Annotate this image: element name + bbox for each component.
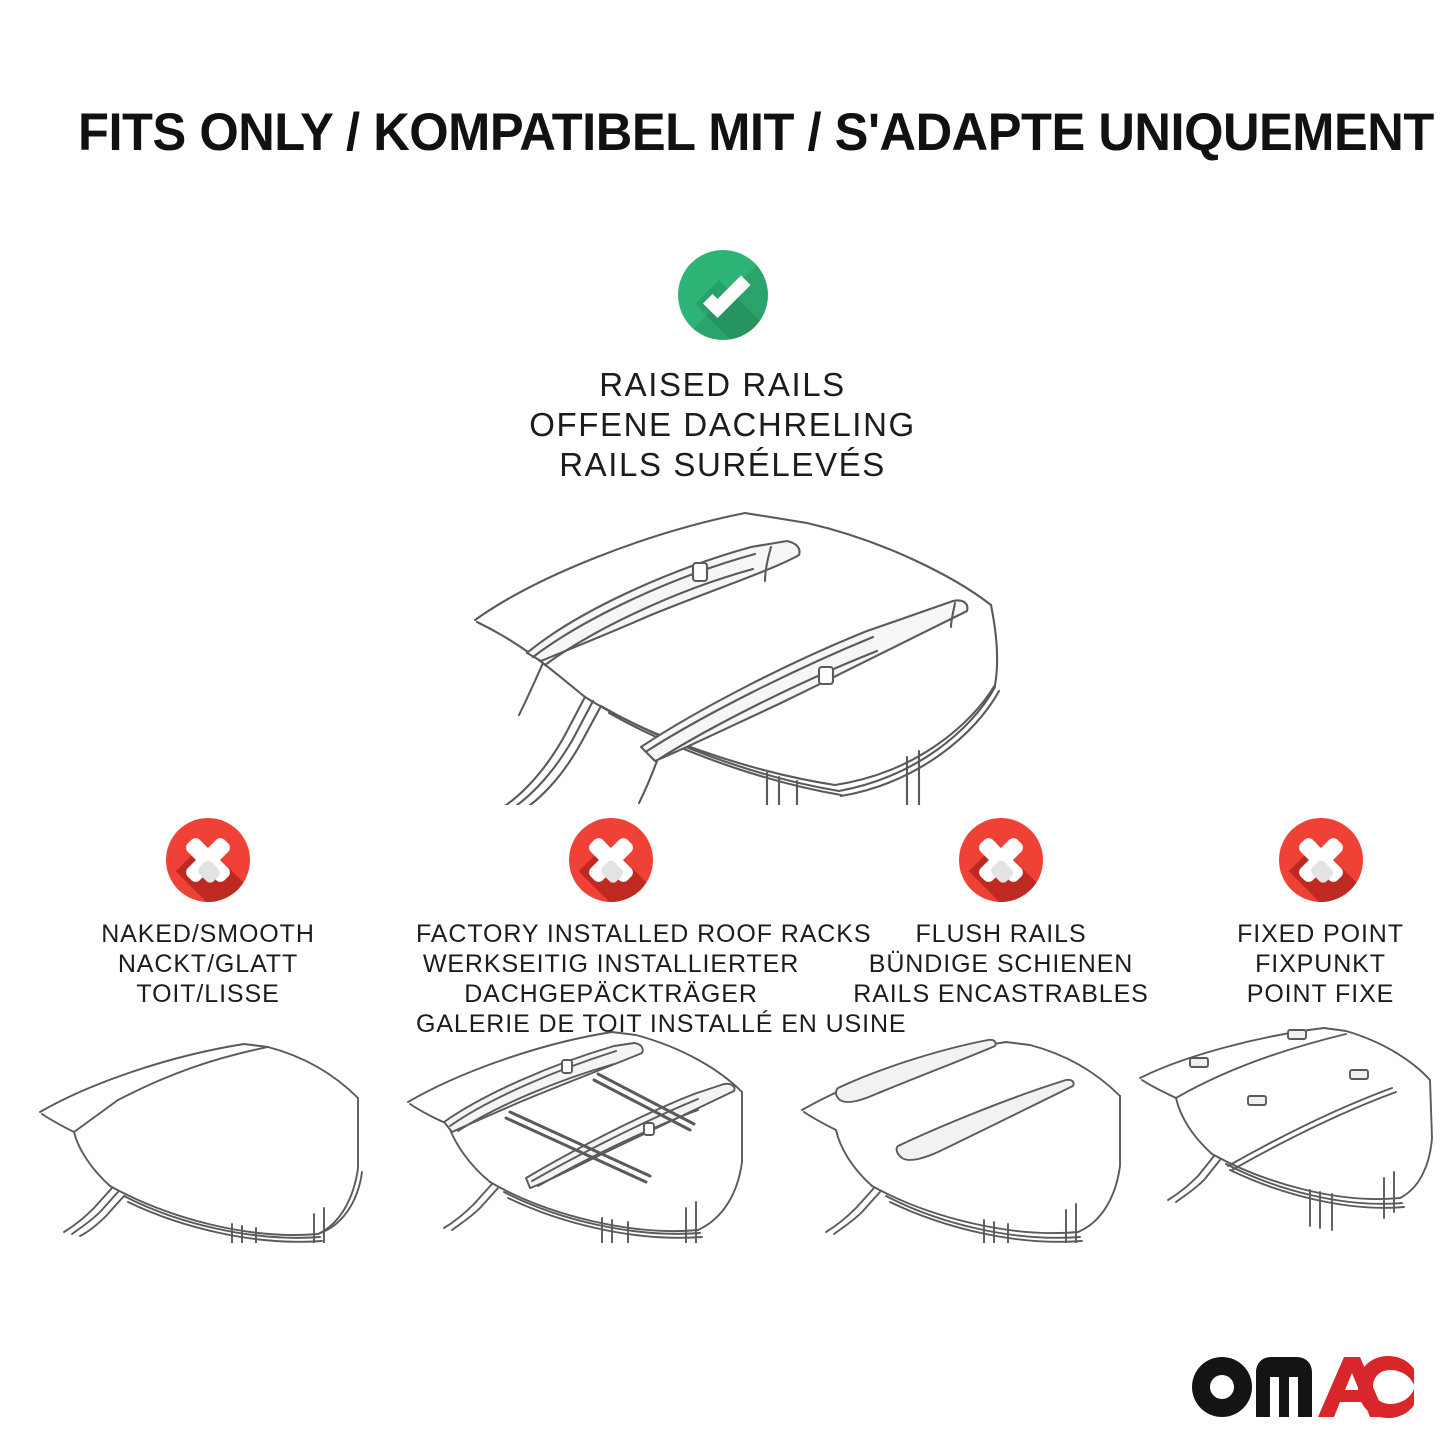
illustration-row [0,1018,1445,1243]
incompatible-label-en: FIXED POINT [1196,919,1445,949]
incompatible-label-de: FIXPUNKT [1196,949,1445,979]
incompatible-label-en: FACTORY INSTALLED ROOF RACKS [416,919,806,949]
incompatible-label-fr: RAILS ENCASTRABLES [806,979,1196,1009]
incompatible-label-de-2: DACHGEPÄCKTRÄGER [416,979,806,1009]
compatible-label-fr: RAILS SURÉLEVÉS [0,445,1445,485]
incompatible-label-de-1: WERKSEITIG INSTALLIERTER [416,949,806,979]
incompatible-labels: FIXED POINT FIXPUNKT POINT FIXE [1196,919,1445,1009]
incompatible-item-flush-rails: FLUSH RAILS BÜNDIGE SCHIENEN RAILS ENCAS… [806,818,1196,1039]
compatible-label-de: OFFENE DACHRELING [0,405,1445,445]
incompatible-label-de: BÜNDIGE SCHIENEN [806,949,1196,979]
incompatible-label-de: NACKT/GLATT [0,949,416,979]
incompatible-labels: FLUSH RAILS BÜNDIGE SCHIENEN RAILS ENCAS… [806,919,1196,1009]
brand-name: OMAC [0,0,1,1]
omac-logo [1192,1355,1414,1419]
compatible-section: RAISED RAILS OFFENE DACHRELING RAILS SUR… [0,250,1445,485]
infographic-canvas: FITS ONLY / KOMPATIBEL MIT / S'ADAPTE UN… [0,0,1445,1445]
x-glyph [569,818,653,902]
incompatible-section: NAKED/SMOOTH NACKT/GLATT TOIT/LISSE FACT… [0,818,1445,1039]
incompatible-item-factory-roof-racks: FACTORY INSTALLED ROOF RACKS WERKSEITIG … [416,818,806,1039]
car-roof-flush-rails-illustration [780,1018,1150,1243]
check-circle-icon [678,250,768,340]
logo-letter-m [1256,1357,1312,1417]
x-glyph [166,818,250,902]
incompatible-item-fixed-point: FIXED POINT FIXPUNKT POINT FIXE [1196,818,1445,1039]
car-roof-naked-smooth-illustration [18,1018,378,1243]
incompatible-label-en: NAKED/SMOOTH [0,919,416,949]
x-glyph [959,818,1043,902]
incompatible-labels: NAKED/SMOOTH NACKT/GLATT TOIT/LISSE [0,919,416,1009]
x-circle-icon [959,818,1043,902]
incompatible-label-fr: POINT FIXE [1196,979,1445,1009]
x-circle-icon [1279,818,1363,902]
compatible-label-en: RAISED RAILS [0,365,1445,405]
x-circle-icon [569,818,653,902]
incompatible-label-en: FLUSH RAILS [806,919,1196,949]
check-glyph [678,250,768,340]
car-roof-factory-roof-racks-illustration [398,1018,783,1243]
x-circle-icon [166,818,250,902]
car-roof-fixed-point-illustration [1128,1018,1445,1243]
car-roof-raised-rails-illustration [415,485,1015,805]
incompatible-label-fr: TOIT/LISSE [0,979,416,1009]
x-glyph [1279,818,1363,902]
incompatible-item-naked-smooth: NAKED/SMOOTH NACKT/GLATT TOIT/LISSE [0,818,416,1039]
page-title: FITS ONLY / KOMPATIBEL MIT / S'ADAPTE UN… [78,104,1320,162]
logo-letter-c [1358,1356,1414,1418]
compatible-labels: RAISED RAILS OFFENE DACHRELING RAILS SUR… [0,365,1445,485]
